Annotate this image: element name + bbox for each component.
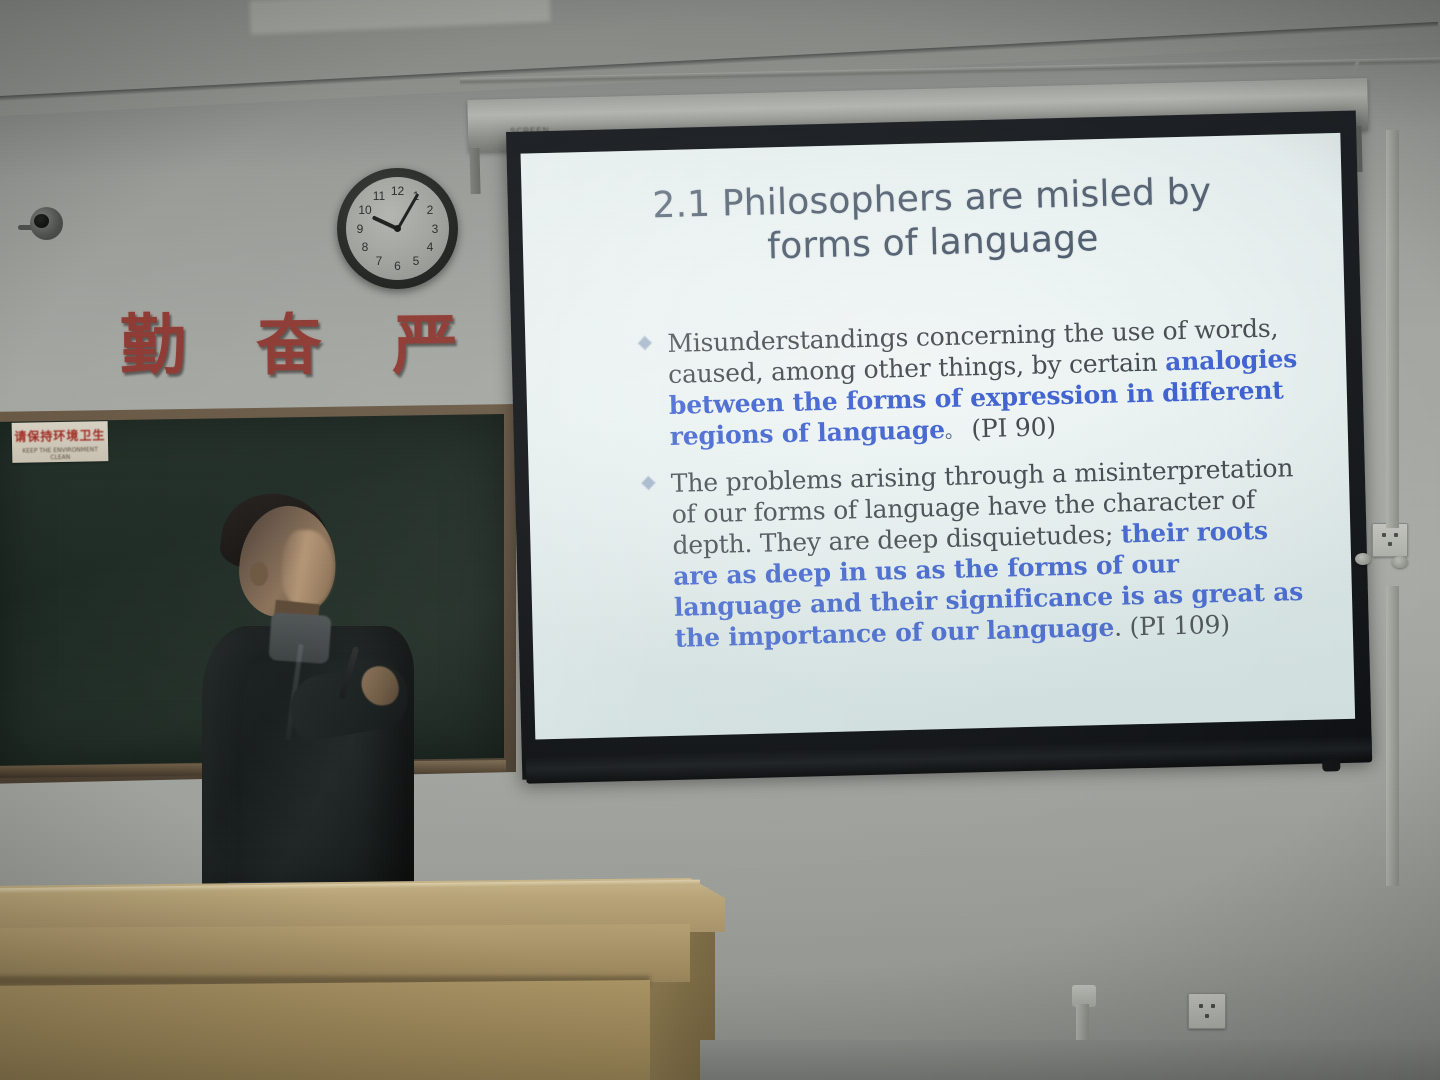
clock-numeral: 11 — [369, 189, 389, 203]
clock-numeral: 6 — [388, 259, 408, 273]
outlet-slot — [1394, 533, 1398, 537]
presenter-figure — [196, 484, 446, 904]
cable-conduit — [1386, 586, 1399, 886]
slide-title: 2.1 Philosophers are misled by forms of … — [581, 168, 1283, 273]
screen-weight-knob — [1322, 759, 1340, 771]
clock-numeral: 2 — [420, 203, 440, 217]
podium-front-face — [0, 980, 650, 1080]
cable-conduit — [1386, 130, 1399, 528]
wall-clock: 12 1 2 3 4 5 6 7 8 9 10 11 — [337, 168, 458, 289]
outlet-slot — [1205, 1014, 1209, 1018]
clock-numeral: 5 — [406, 254, 426, 268]
blackboard-notice-sign: 请保持环境卫生 KEEP THE ENVIRONMENT CLEAN — [12, 421, 109, 463]
diamond-bullet-icon — [641, 475, 657, 491]
cable-hook — [1355, 553, 1371, 565]
screen-bracket-left — [469, 148, 480, 194]
bullet1-seg4-reference: (PI 90) — [963, 412, 1056, 443]
clock-numeral: 7 — [369, 254, 389, 268]
notice-line-1: 请保持环境卫生 — [12, 426, 108, 445]
projection-screen[interactable]: 2.1 Philosophers are misled by forms of … — [506, 110, 1372, 779]
motto-char-2: 奋 — [256, 313, 323, 380]
clock-numeral: 4 — [420, 240, 440, 254]
clock-numeral: 10 — [355, 203, 375, 217]
motto-char-1: 勤 — [120, 313, 187, 380]
power-outlet[interactable] — [1372, 523, 1408, 557]
outlet-slot — [1211, 1004, 1215, 1008]
clock-face: 12 1 2 3 4 5 6 7 8 9 10 11 — [346, 177, 449, 280]
outlet-slot — [1382, 533, 1386, 537]
security-camera-icon — [18, 205, 64, 241]
power-outlet[interactable] — [1188, 993, 1226, 1029]
slide-bullet-item: Misunderstandings concerning the use of … — [637, 312, 1300, 453]
camera-lens — [34, 214, 49, 228]
outlet-slot — [1199, 1004, 1203, 1008]
floor-strip — [700, 1040, 1440, 1080]
motto-char-3: 严 — [392, 313, 459, 380]
slide-bullet-item: The problems arising through a misinterp… — [641, 452, 1305, 655]
wall-motto: 勤 奋 严 谨 — [120, 300, 550, 392]
cable-hook — [1392, 556, 1408, 568]
presenter-ear — [250, 562, 268, 586]
presenter-face — [282, 530, 334, 608]
clock-center-pin — [394, 225, 401, 232]
projection-surface[interactable]: 2.1 Philosophers are misled by forms of … — [521, 133, 1356, 740]
diamond-bullet-icon — [637, 335, 653, 351]
lecture-hall-scene: 12 1 2 3 4 5 6 7 8 9 10 11 勤 奋 严 谨 请保持环境… — [0, 0, 1440, 1080]
lecture-podium — [0, 876, 725, 1080]
clock-numeral: 12 — [388, 184, 408, 198]
presentation-slide: 2.1 Philosophers are misled by forms of … — [521, 133, 1356, 740]
clock-numeral: 9 — [350, 222, 370, 236]
bullet1-seg3-cjk-period: 。 — [945, 421, 964, 443]
clock-numeral: 8 — [355, 240, 375, 254]
bullet2-seg3-reference: . (PI 109) — [1114, 610, 1230, 642]
outlet-slot — [1388, 542, 1392, 546]
notice-line-2: KEEP THE ENVIRONMENT CLEAN — [12, 446, 108, 462]
clock-numeral: 3 — [425, 222, 445, 236]
slide-bullet-list: Misunderstandings concerning the use of … — [637, 312, 1305, 671]
